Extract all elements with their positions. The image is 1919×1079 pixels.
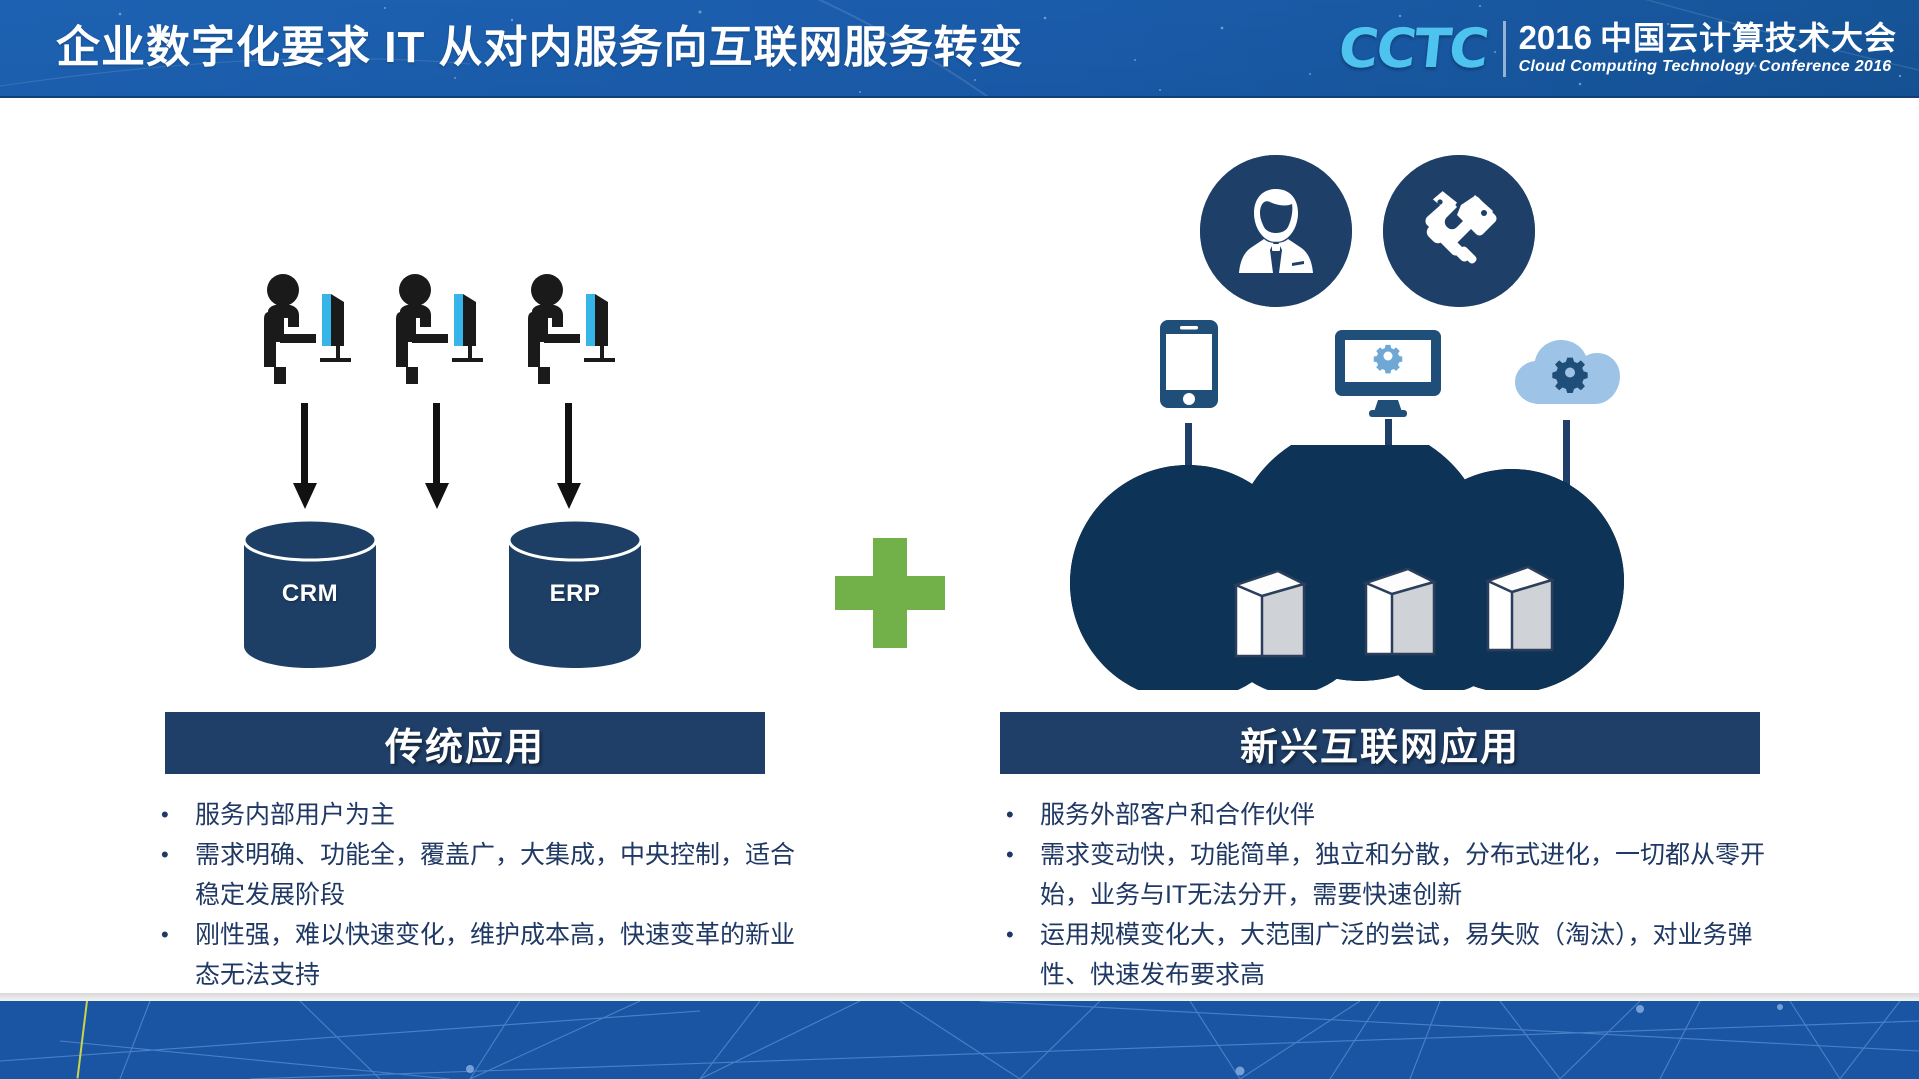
database-cylinder-crm: CRM: [240, 518, 380, 668]
list-item: • 刚性强，难以快速变化，维护成本高，快速变革的新业态无法支持: [155, 915, 795, 995]
logo-divider: [1503, 21, 1506, 77]
cloud-gear-icon: [1512, 332, 1628, 414]
businessman-icon: [1200, 155, 1352, 307]
down-arrow-icon: [554, 403, 584, 511]
bullet-dot-icon: •: [155, 915, 195, 995]
slide-header: 企业数字化要求 IT 从对内服务向互联网服务转变 CCTC 2016 中国云计算…: [0, 0, 1919, 98]
container-box-icon: [1488, 567, 1552, 650]
list-item: • 服务内部用户为主: [155, 795, 795, 835]
smartphone-icon: [1158, 318, 1220, 410]
list-item: • 服务外部客户和合作伙伴: [1000, 795, 1790, 835]
bullet-dot-icon: •: [1000, 835, 1040, 915]
cloud-shape: [1070, 445, 1624, 690]
cctc-wordmark: CCTC: [1336, 22, 1489, 76]
logo-text-block: 2016 中国云计算技术大会 Cloud Computing Technolog…: [1519, 21, 1897, 77]
bullet-text: 服务内部用户为主: [195, 795, 795, 835]
slide-footer: [0, 993, 1919, 1079]
cloud-with-containers: [1060, 445, 1690, 690]
logo-chinese-name: 中国云计算技术大会: [1600, 21, 1897, 55]
right-bullet-list: • 服务外部客户和合作伙伴 • 需求变动快，功能简单，独立和分散，分布式进化，一…: [1000, 795, 1790, 995]
bullet-text: 运用规模变化大，大范围广泛的尝试，易失败（淘汰），对业务弹性、快速发布要求高: [1040, 915, 1790, 995]
bullet-dot-icon: •: [1000, 915, 1040, 995]
down-arrow-icon: [290, 403, 320, 511]
logo-year: 2016: [1519, 21, 1592, 55]
person-at-desk-icon: [390, 272, 498, 384]
left-banner-label: 传统应用: [385, 716, 545, 771]
bullet-text: 刚性强，难以快速变化，维护成本高，快速变革的新业态无法支持: [195, 915, 795, 995]
bullet-text: 需求变动快，功能简单，独立和分散，分布式进化，一切都从零开始，业务与IT无法分开…: [1040, 835, 1790, 915]
right-section-banner: 新兴互联网应用: [1000, 712, 1760, 774]
bullet-text: 服务外部客户和合作伙伴: [1040, 795, 1790, 835]
cctc-logo: CCTC 2016 中国云计算技术大会 Cloud Computing Tech…: [1339, 14, 1897, 84]
database-label: CRM: [240, 580, 380, 608]
list-item: • 需求变动快，功能简单，独立和分散，分布式进化，一切都从零开始，业务与IT无法…: [1000, 835, 1790, 915]
container-box-icon: [1236, 571, 1304, 656]
handshake-icon: [1383, 155, 1535, 307]
logo-english-name: Cloud Computing Technology Conference 20…: [1519, 57, 1897, 77]
bullet-text: 需求明确、功能全，覆盖广，大集成，中央控制，适合稳定发展阶段: [195, 835, 795, 915]
bullet-dot-icon: •: [155, 795, 195, 835]
businessman-circle: [1200, 155, 1352, 307]
left-section-banner: 传统应用: [165, 712, 765, 774]
right-banner-label: 新兴互联网应用: [1240, 716, 1520, 771]
bullet-dot-icon: •: [1000, 795, 1040, 835]
down-arrow-icon: [422, 403, 452, 511]
slide: 企业数字化要求 IT 从对内服务向互联网服务转变 CCTC 2016 中国云计算…: [0, 0, 1919, 1079]
handshake-circle: [1383, 155, 1535, 307]
page-title: 企业数字化要求 IT 从对内服务向互联网服务转变: [56, 16, 1024, 80]
header-bottom-rule: [0, 96, 1919, 98]
database-cylinder-erp: ERP: [505, 518, 645, 668]
container-box-icon: [1366, 569, 1434, 654]
footer-top-rule: [0, 993, 1919, 1001]
bullet-dot-icon: •: [155, 835, 195, 915]
left-bullet-list: • 服务内部用户为主 • 需求明确、功能全，覆盖广，大集成，中央控制，适合稳定发…: [155, 795, 795, 995]
plus-symbol-icon: [835, 538, 945, 648]
database-label: ERP: [505, 580, 645, 608]
logo-primary-line: 2016 中国云计算技术大会: [1519, 21, 1897, 55]
desktop-gear-icon: [1333, 328, 1443, 418]
list-item: • 需求明确、功能全，覆盖广，大集成，中央控制，适合稳定发展阶段: [155, 835, 795, 915]
list-item: • 运用规模变化大，大范围广泛的尝试，易失败（淘汰），对业务弹性、快速发布要求高: [1000, 915, 1790, 995]
person-at-desk-icon: [258, 272, 366, 384]
person-at-desk-icon: [522, 272, 630, 384]
footer-network-decoration: [0, 1001, 1919, 1079]
